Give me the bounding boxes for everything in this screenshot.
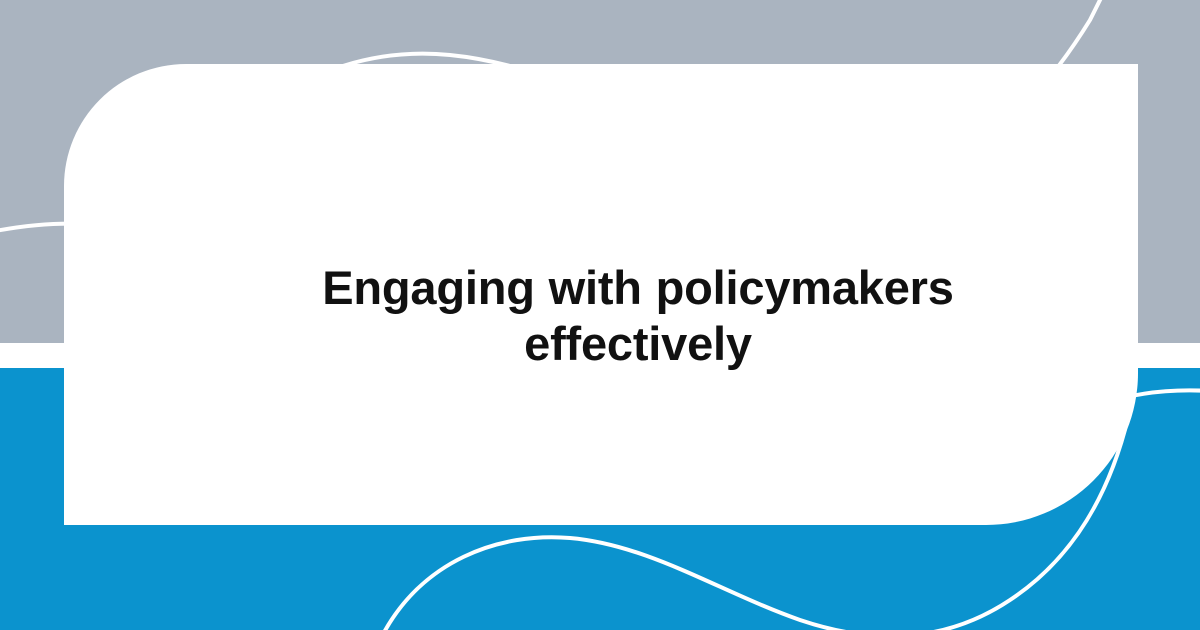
social-card-canvas: Engaging with policymakers effectively — [0, 0, 1200, 630]
page-title: Engaging with policymakers effectively — [288, 260, 988, 372]
content-card: Engaging with policymakers effectively — [64, 64, 1138, 525]
headline-block: Engaging with policymakers effectively — [64, 260, 1138, 372]
